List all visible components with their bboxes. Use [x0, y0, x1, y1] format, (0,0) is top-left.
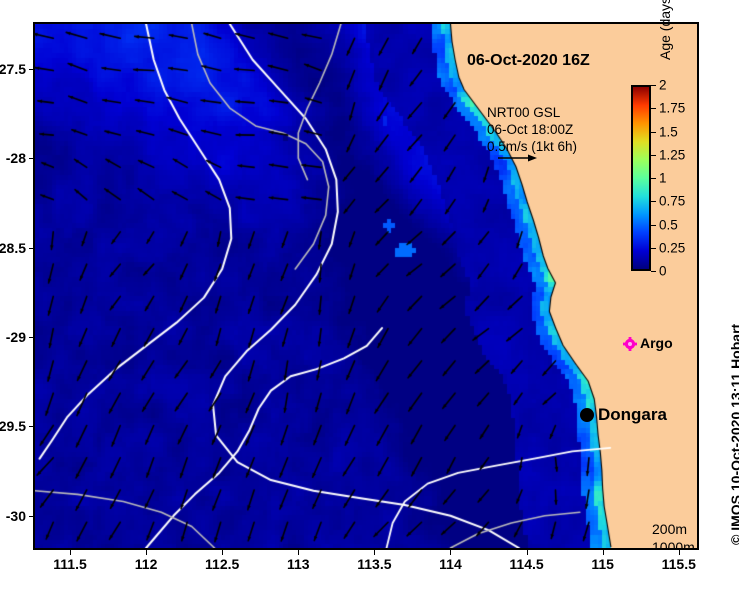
y-tick-label: -27.5	[0, 61, 26, 77]
x-tick	[450, 549, 451, 555]
colorbar-title: Age (days) of filled SST (wrt latest)	[657, 0, 673, 60]
reference-arrow-icon	[497, 153, 537, 163]
vector-time-label: 06-Oct 18:00Z	[487, 121, 577, 138]
colorbar-tick-label: 0.25	[659, 240, 685, 255]
y-tick	[29, 337, 35, 338]
y-tick-label: -28	[6, 150, 26, 166]
colorbar-tick-label: 2	[659, 78, 667, 93]
x-tick	[222, 549, 223, 555]
x-tick	[603, 549, 604, 555]
x-tick	[146, 549, 147, 555]
y-tick-label: -29	[6, 329, 26, 345]
x-tick	[679, 549, 680, 555]
depth-1000m-label: 1000m	[652, 538, 695, 550]
credit-label: © IMOS 10-Oct-2020 13:11 Hobart	[728, 245, 739, 545]
x-tick-label: 114.5	[509, 556, 543, 572]
colorbar-tick	[651, 271, 656, 272]
x-tick-label: 112.5	[205, 556, 239, 572]
argo-marker-icon	[623, 337, 637, 351]
colorbar-tick	[651, 108, 656, 109]
colorbar-tick-label: 0.75	[659, 194, 685, 209]
depth-contour-legend: 200m 1000m	[652, 520, 695, 550]
colorbar-tick-label: 1.25	[659, 147, 685, 162]
colorbar-tick	[651, 85, 656, 86]
y-tick	[29, 158, 35, 159]
depth-200m-label: 200m	[652, 520, 695, 538]
x-tick	[374, 549, 375, 555]
colorbar-tick	[651, 132, 656, 133]
colorbar-tick	[651, 155, 656, 156]
y-tick	[29, 426, 35, 427]
contours-and-vectors-canvas	[35, 24, 697, 548]
map-plot-area[interactable]: 06-Oct-2020 16Z NRT00 GSL 06-Oct 18:00Z …	[33, 22, 699, 550]
y-tick	[29, 248, 35, 249]
colorbar-tick-label: 1.5	[659, 124, 678, 139]
y-tick-label: -28.5	[0, 240, 26, 256]
x-tick-label: 114	[439, 556, 462, 572]
colorbar-tick-label: 0.5	[659, 217, 678, 232]
x-tick-label: 115.5	[662, 556, 696, 572]
colorbar-tick-label: 1	[659, 171, 667, 186]
date-stamp: 06-Oct-2020 16Z	[467, 52, 590, 70]
argo-legend-label: Argo	[640, 335, 673, 351]
colorbar-tick-label: 0	[659, 264, 667, 279]
x-tick-label: 111.5	[53, 556, 87, 572]
y-tick-label: -29.5	[0, 418, 26, 434]
colorbar-gradient	[631, 85, 651, 271]
x-tick-label: 113	[287, 556, 310, 572]
x-tick	[70, 549, 71, 555]
y-tick	[29, 69, 35, 70]
dongara-marker-icon	[580, 408, 594, 422]
dongara-place-label: Dongara	[598, 405, 667, 425]
colorbar-tick	[651, 225, 656, 226]
x-tick-label: 112	[135, 556, 158, 572]
x-tick-label: 115	[591, 556, 614, 572]
colorbar-tick-label: 1.75	[659, 101, 685, 116]
x-tick	[527, 549, 528, 555]
colorbar-tick	[651, 178, 656, 179]
vector-legend: NRT00 GSL 06-Oct 18:00Z 0.5m/s (1kt 6h)	[487, 104, 577, 155]
x-tick	[298, 549, 299, 555]
vector-source-label: NRT00 GSL	[487, 104, 577, 121]
colorbar[interactable]: 00.250.50.7511.251.51.752	[631, 85, 651, 271]
colorbar-tick	[651, 201, 656, 202]
x-tick-label: 113.5	[357, 556, 391, 572]
y-tick-label: -30	[6, 508, 26, 524]
figure-root: 06-Oct-2020 16Z NRT00 GSL 06-Oct 18:00Z …	[0, 0, 739, 592]
colorbar-tick	[651, 248, 656, 249]
y-tick	[29, 516, 35, 517]
